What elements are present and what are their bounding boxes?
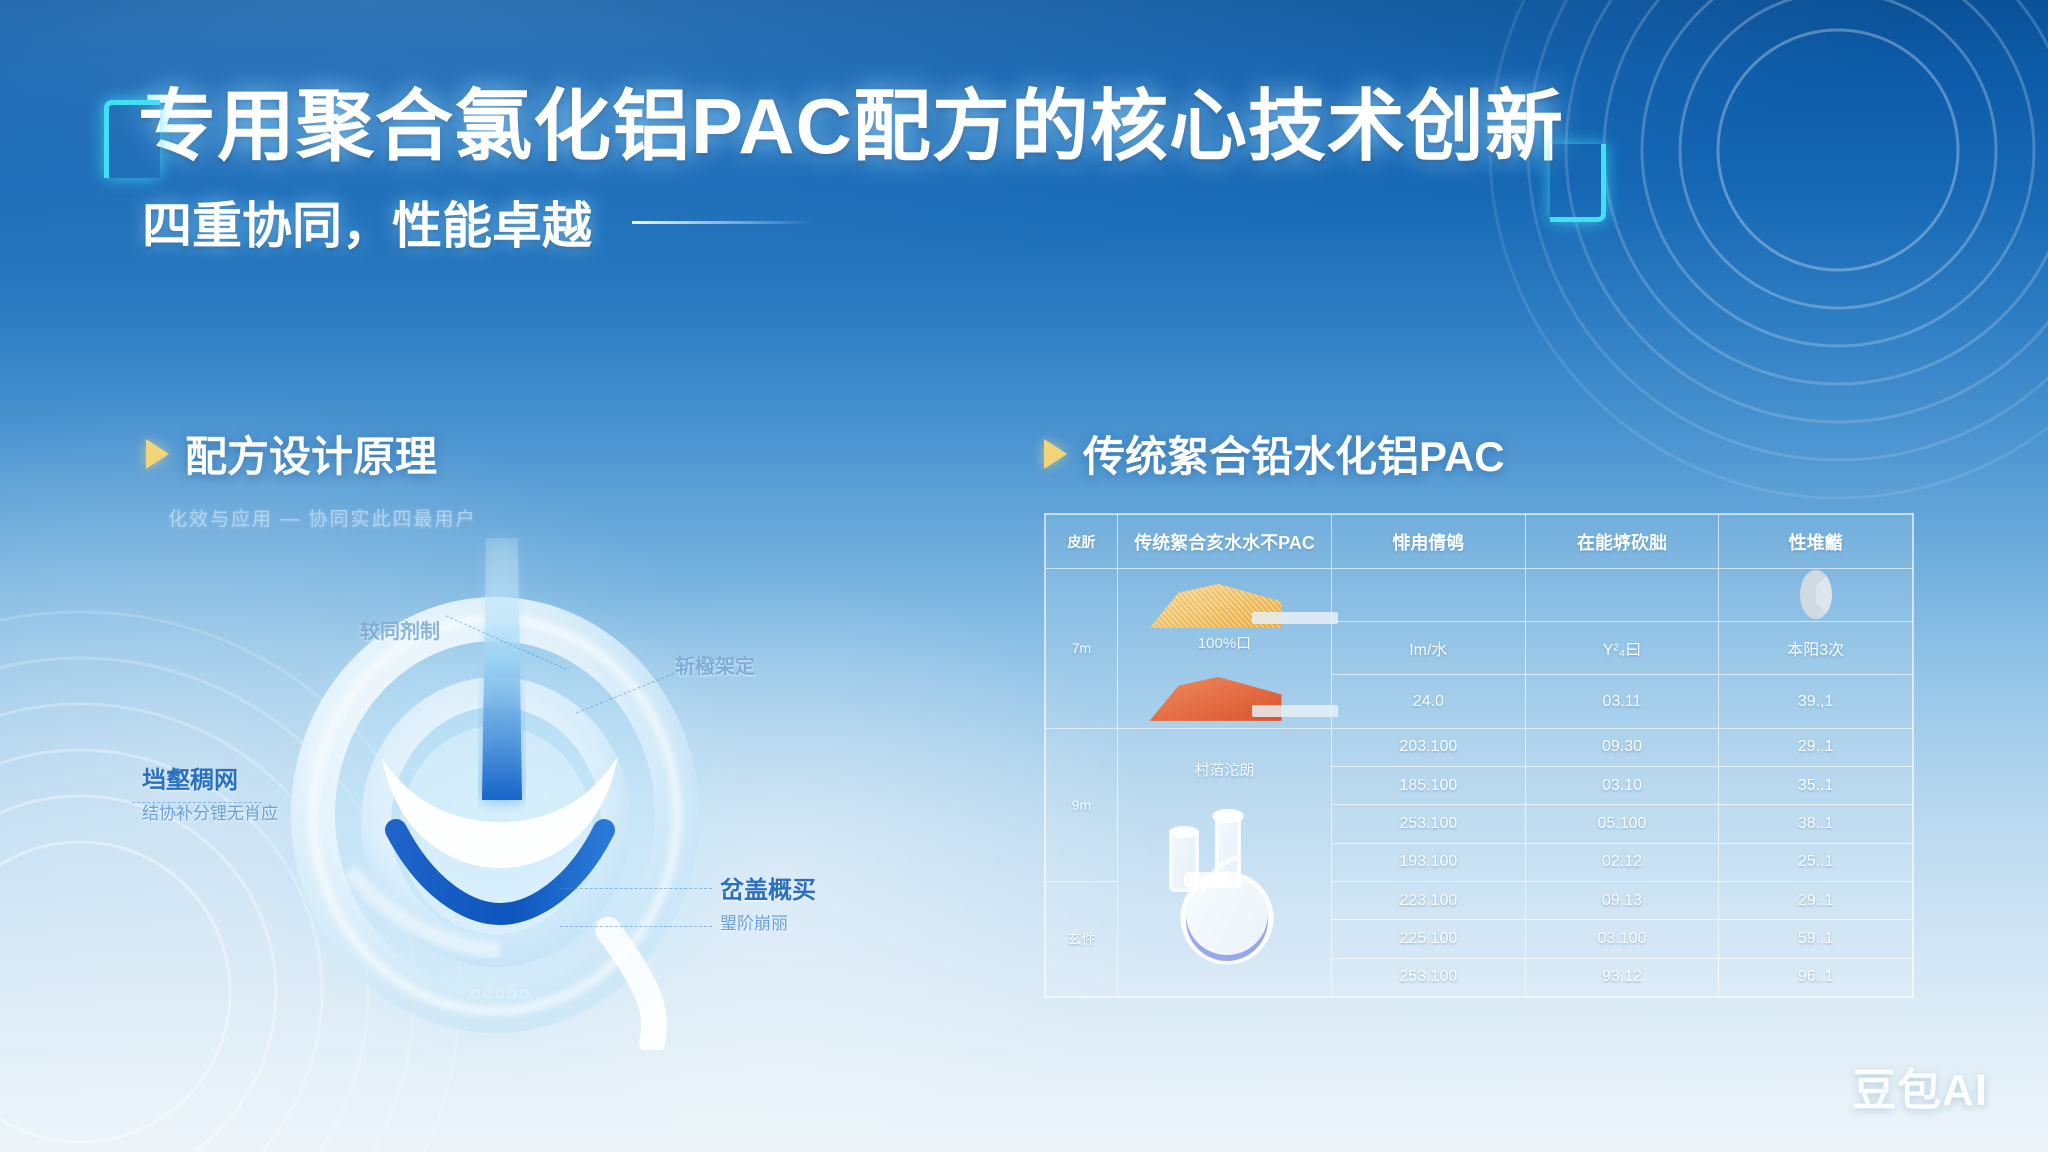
table-cell: 93.12 (1525, 958, 1719, 996)
table-row: 9m 村萡沱朗 (1046, 728, 1913, 766)
section-title-right: 传统絮合铅水化铝PAC (1083, 423, 1505, 484)
callout-label: 岔盖概买 (720, 870, 816, 905)
table-cell: 29..1 (1719, 881, 1913, 919)
table-cell-shape (1719, 569, 1913, 622)
table-cell-shape (1332, 569, 1526, 622)
table-cell: 193.100 (1332, 843, 1526, 881)
diagram-caption: 化效与应用 — 协同实此四最用户 (168, 504, 477, 531)
formula-principle-diagram: 化效与应用 — 协同实此四最用户 (120, 490, 960, 1050)
triangle-right-icon (1044, 439, 1067, 469)
table-cell: 09.30 (1525, 728, 1719, 766)
table-row-label: 7m (1046, 569, 1118, 729)
svg-text:○○○○○: ○○○○○ (470, 983, 530, 1005)
table-header-cell: 性堆龤 (1719, 515, 1913, 569)
torus-graphic-icon: ○○○○○ (200, 530, 820, 1050)
page-title: 专用聚合氯化铝PAC配方的核心技术创新 (96, 84, 1564, 168)
table-media-cell: 100%⼝ (1118, 569, 1332, 729)
table-cell: Im/水 (1332, 622, 1526, 675)
watermark-logo: 豆包AI (1852, 1054, 1988, 1118)
section-title-left: 配方设计原理 (185, 423, 437, 484)
orange-granule-pile-icon (1150, 669, 1300, 721)
callout-label: 斩橃架定 (675, 650, 755, 679)
table-media-cell: 村萡沱朗 (1118, 728, 1332, 996)
table-cell: 本阳3次 (1719, 622, 1913, 675)
subtitle-row: 四重协同，性能卓越 (96, 186, 1564, 258)
table-cell: 96..1 (1719, 958, 1913, 996)
diagram-callout-top-left: 较同剂制 (360, 615, 440, 644)
table-cell: 02.12 (1525, 843, 1719, 881)
table-cell: 185.100 (1332, 766, 1526, 804)
callout-lead-line (560, 888, 712, 889)
slide-canvas: 专用聚合氯化铝PAC配方的核心技术创新 四重协同，性能卓越 配方设计原理 传统絮… (0, 0, 2048, 1152)
table-cell: Y²₄曰 (1525, 622, 1719, 675)
table-cell: 253.100 (1332, 958, 1526, 996)
comparison-table: 皮肵 传统絮合亥水水不PAC 悱甪倩鸲 在能垿砍朏 性堆龤 7m 100%⼝ (1045, 514, 1913, 997)
corner-bracket-left-icon (104, 100, 160, 178)
table-cell: 25..1 (1719, 843, 1913, 881)
triangle-right-icon (146, 439, 169, 469)
diagram-callout-left: 垱壑稠网 结协补分锂无肖应 (142, 760, 278, 824)
table-cell: 05.100 (1525, 805, 1719, 843)
corner-bracket-right-icon (1550, 144, 1606, 222)
page-subtitle: 四重协同，性能卓越 (142, 186, 592, 258)
gold-granule-pile-icon (1150, 576, 1300, 628)
callout-sublabel: 琞阶崩丽 (720, 909, 816, 934)
diagram-callout-right: 岔盖概买 琞阶崩丽 (720, 870, 816, 934)
table-header-cell: 悱甪倩鸲 (1332, 515, 1526, 569)
table-cell: 223.100 (1332, 881, 1526, 919)
table-cell: 24.0 (1332, 675, 1526, 728)
media-caption: 100%⼝ (1122, 632, 1327, 653)
callout-lead-line (560, 926, 712, 927)
table-cell: 225.100 (1332, 920, 1526, 958)
table-header-cell: 在能垿砍朏 (1525, 515, 1719, 569)
table-cell: 09.13 (1525, 881, 1719, 919)
table-header-cell: 皮肵 (1046, 515, 1118, 569)
title-block: 专用聚合氯化铝PAC配方的核心技术创新 四重协同，性能卓越 (96, 84, 1564, 258)
table-cell: 59..1 (1719, 920, 1913, 958)
table-header-cell: 传统絮合亥水水不PAC (1118, 515, 1332, 569)
comparison-table-card: 皮肵 传统絮合亥水水不PAC 悱甪倩鸲 在能垿砍朏 性堆龤 7m 100%⼝ (1044, 513, 1914, 998)
grey-ring-icon (1800, 570, 1832, 619)
table-cell: 29,.1 (1719, 728, 1913, 766)
table-cell: 03.11 (1525, 675, 1719, 728)
table-row-label: 9m (1046, 728, 1118, 881)
section-header-right: 传统絮合铅水化铝PAC (1044, 423, 1505, 484)
table-cell: 203.100 (1332, 728, 1526, 766)
table-cell: 35..1 (1719, 766, 1913, 804)
table-header-row: 皮肵 传统絮合亥水水不PAC 悱甪倩鸲 在能垿砍朏 性堆龤 (1046, 515, 1913, 569)
callout-label: 较同剂制 (360, 615, 440, 644)
table-cell: 253.100 (1332, 805, 1526, 843)
decorative-rings-top-right (1458, 0, 2048, 530)
diagram-callout-top-right: 斩橃架定 (675, 650, 755, 679)
table-cell: 03.10 (1525, 766, 1719, 804)
table-cell: 39.,1 (1719, 675, 1913, 728)
callout-label: 垱壑稠网 (142, 760, 278, 795)
table-cell: 38..1 (1719, 805, 1913, 843)
table-row-label: 玄件 (1046, 881, 1118, 996)
callout-sublabel: 结协补分锂无肖应 (142, 799, 278, 824)
subtitle-divider (632, 221, 812, 224)
media-caption: 村萡沱朗 (1122, 759, 1327, 780)
table-cell: 03.100 (1525, 920, 1719, 958)
flask-apparatus-icon (1141, 780, 1309, 970)
table-row: 7m 100%⼝ (1046, 569, 1913, 622)
section-header-left: 配方设计原理 (146, 423, 437, 484)
table-cell-shape (1525, 569, 1719, 622)
